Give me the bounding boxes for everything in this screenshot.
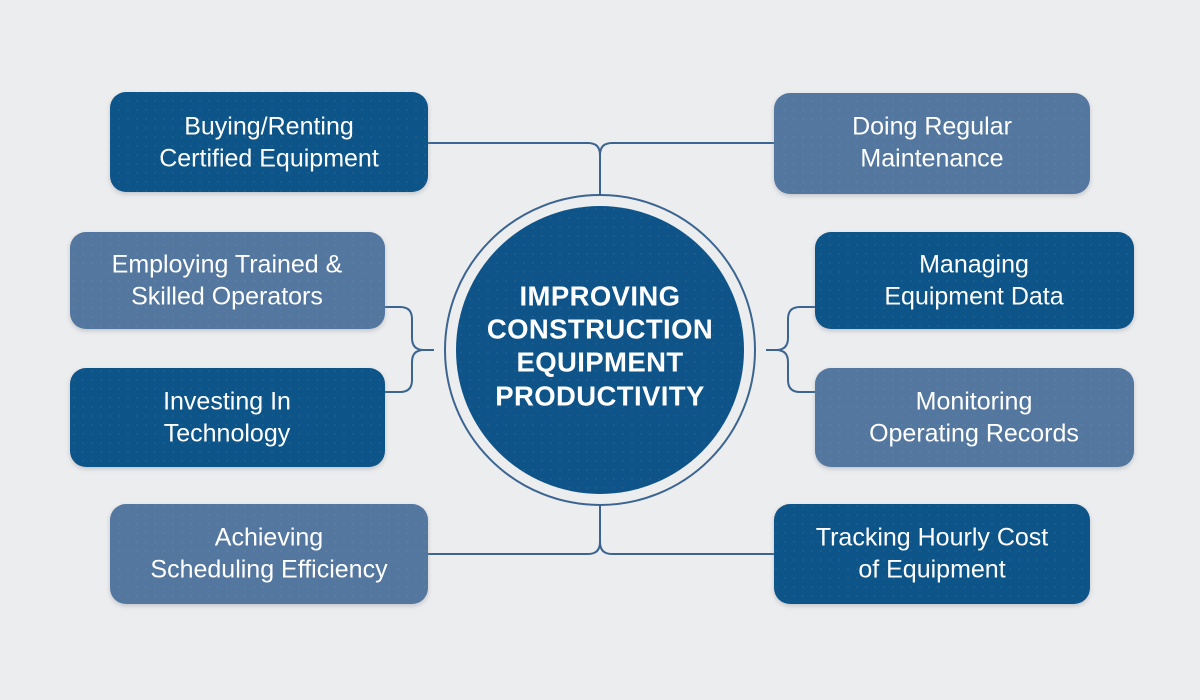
node-label-line-2-doing-regular: Maintenance	[860, 145, 1003, 173]
node-texture-achieving-scheduling-efficiency	[110, 504, 428, 604]
node-texture-monitoring-operating-records	[815, 368, 1134, 467]
node-label-line-2-buying-renting: Certified Equipment	[159, 145, 379, 173]
node-label-line-1-investing: Investing In	[163, 388, 291, 416]
node-doing-regular-maintenance[interactable]: Doing Regular Maintenance	[774, 93, 1090, 194]
node-label-line-2-achieving: Scheduling Efficiency	[150, 556, 388, 584]
node-label-line-1-doing-regular: Doing Regular	[852, 113, 1012, 141]
node-label-line-2-employing-trained: Skilled Operators	[131, 283, 323, 311]
connector-tracking-hourly-cost-of-equipment	[600, 504, 774, 554]
node-buying-renting-certified-equipment[interactable]: Buying/Renting Certified Equipment	[110, 92, 428, 192]
connector-doing-regular-maintenance	[600, 143, 774, 196]
node-label-line-1-buying-renting: Buying/Renting	[184, 113, 354, 141]
node-label-line-1-monitoring: Monitoring	[916, 388, 1033, 416]
node-label-line-2-managing: Equipment Data	[884, 283, 1063, 311]
node-tracking-hourly-cost-of-equipment[interactable]: Tracking Hourly Cost of Equipment	[774, 504, 1090, 604]
connector-managing-equipment-data	[766, 307, 815, 350]
connector-buying-renting-certified-equipment	[428, 143, 600, 196]
connector-employing-trained-skilled-operators	[385, 307, 434, 350]
node-label-line-2-tracking: of Equipment	[858, 556, 1005, 584]
node-managing-equipment-data[interactable]: Managing Equipment Data	[815, 232, 1134, 329]
node-label-line-1-managing: Managing	[919, 251, 1029, 279]
connector-investing-in-technology	[385, 350, 434, 392]
mind-map-svg: IMPROVING CONSTRUCTION EQUIPMENT PRODUCT…	[0, 0, 1200, 700]
node-texture-buying-renting-certified-equipment	[110, 92, 428, 192]
center-title-line-1: IMPROVING	[520, 280, 681, 311]
center-node[interactable]: IMPROVING CONSTRUCTION EQUIPMENT PRODUCT…	[445, 195, 755, 505]
node-texture-doing-regular-maintenance	[774, 93, 1090, 194]
node-monitoring-operating-records[interactable]: Monitoring Operating Records	[815, 368, 1134, 467]
node-label-line-2-monitoring: Operating Records	[869, 420, 1079, 448]
node-employing-trained-skilled-operators[interactable]: Employing Trained & Skilled Operators	[70, 232, 385, 329]
node-texture-managing-equipment-data	[815, 232, 1134, 329]
center-title-line-4: PRODUCTIVITY	[495, 380, 705, 411]
connector-achieving-scheduling-efficiency	[428, 504, 600, 554]
connector-monitoring-operating-records	[766, 350, 815, 392]
node-label-line-1-tracking: Tracking Hourly Cost	[816, 524, 1049, 552]
node-texture-investing-in-technology	[70, 368, 385, 467]
node-investing-in-technology[interactable]: Investing In Technology	[70, 368, 385, 467]
diagram-canvas: IMPROVING CONSTRUCTION EQUIPMENT PRODUCT…	[0, 0, 1200, 700]
node-label-line-1-employing-trained: Employing Trained &	[112, 251, 343, 279]
center-title-line-3: EQUIPMENT	[516, 346, 683, 377]
center-title-line-2: CONSTRUCTION	[487, 313, 713, 344]
node-label-line-1-achieving: Achieving	[215, 524, 323, 552]
node-achieving-scheduling-efficiency[interactable]: Achieving Scheduling Efficiency	[110, 504, 428, 604]
node-label-line-2-investing: Technology	[164, 420, 291, 448]
node-texture-tracking-hourly-cost-of-equipment	[774, 504, 1090, 604]
node-texture-employing-trained-skilled-operators	[70, 232, 385, 329]
